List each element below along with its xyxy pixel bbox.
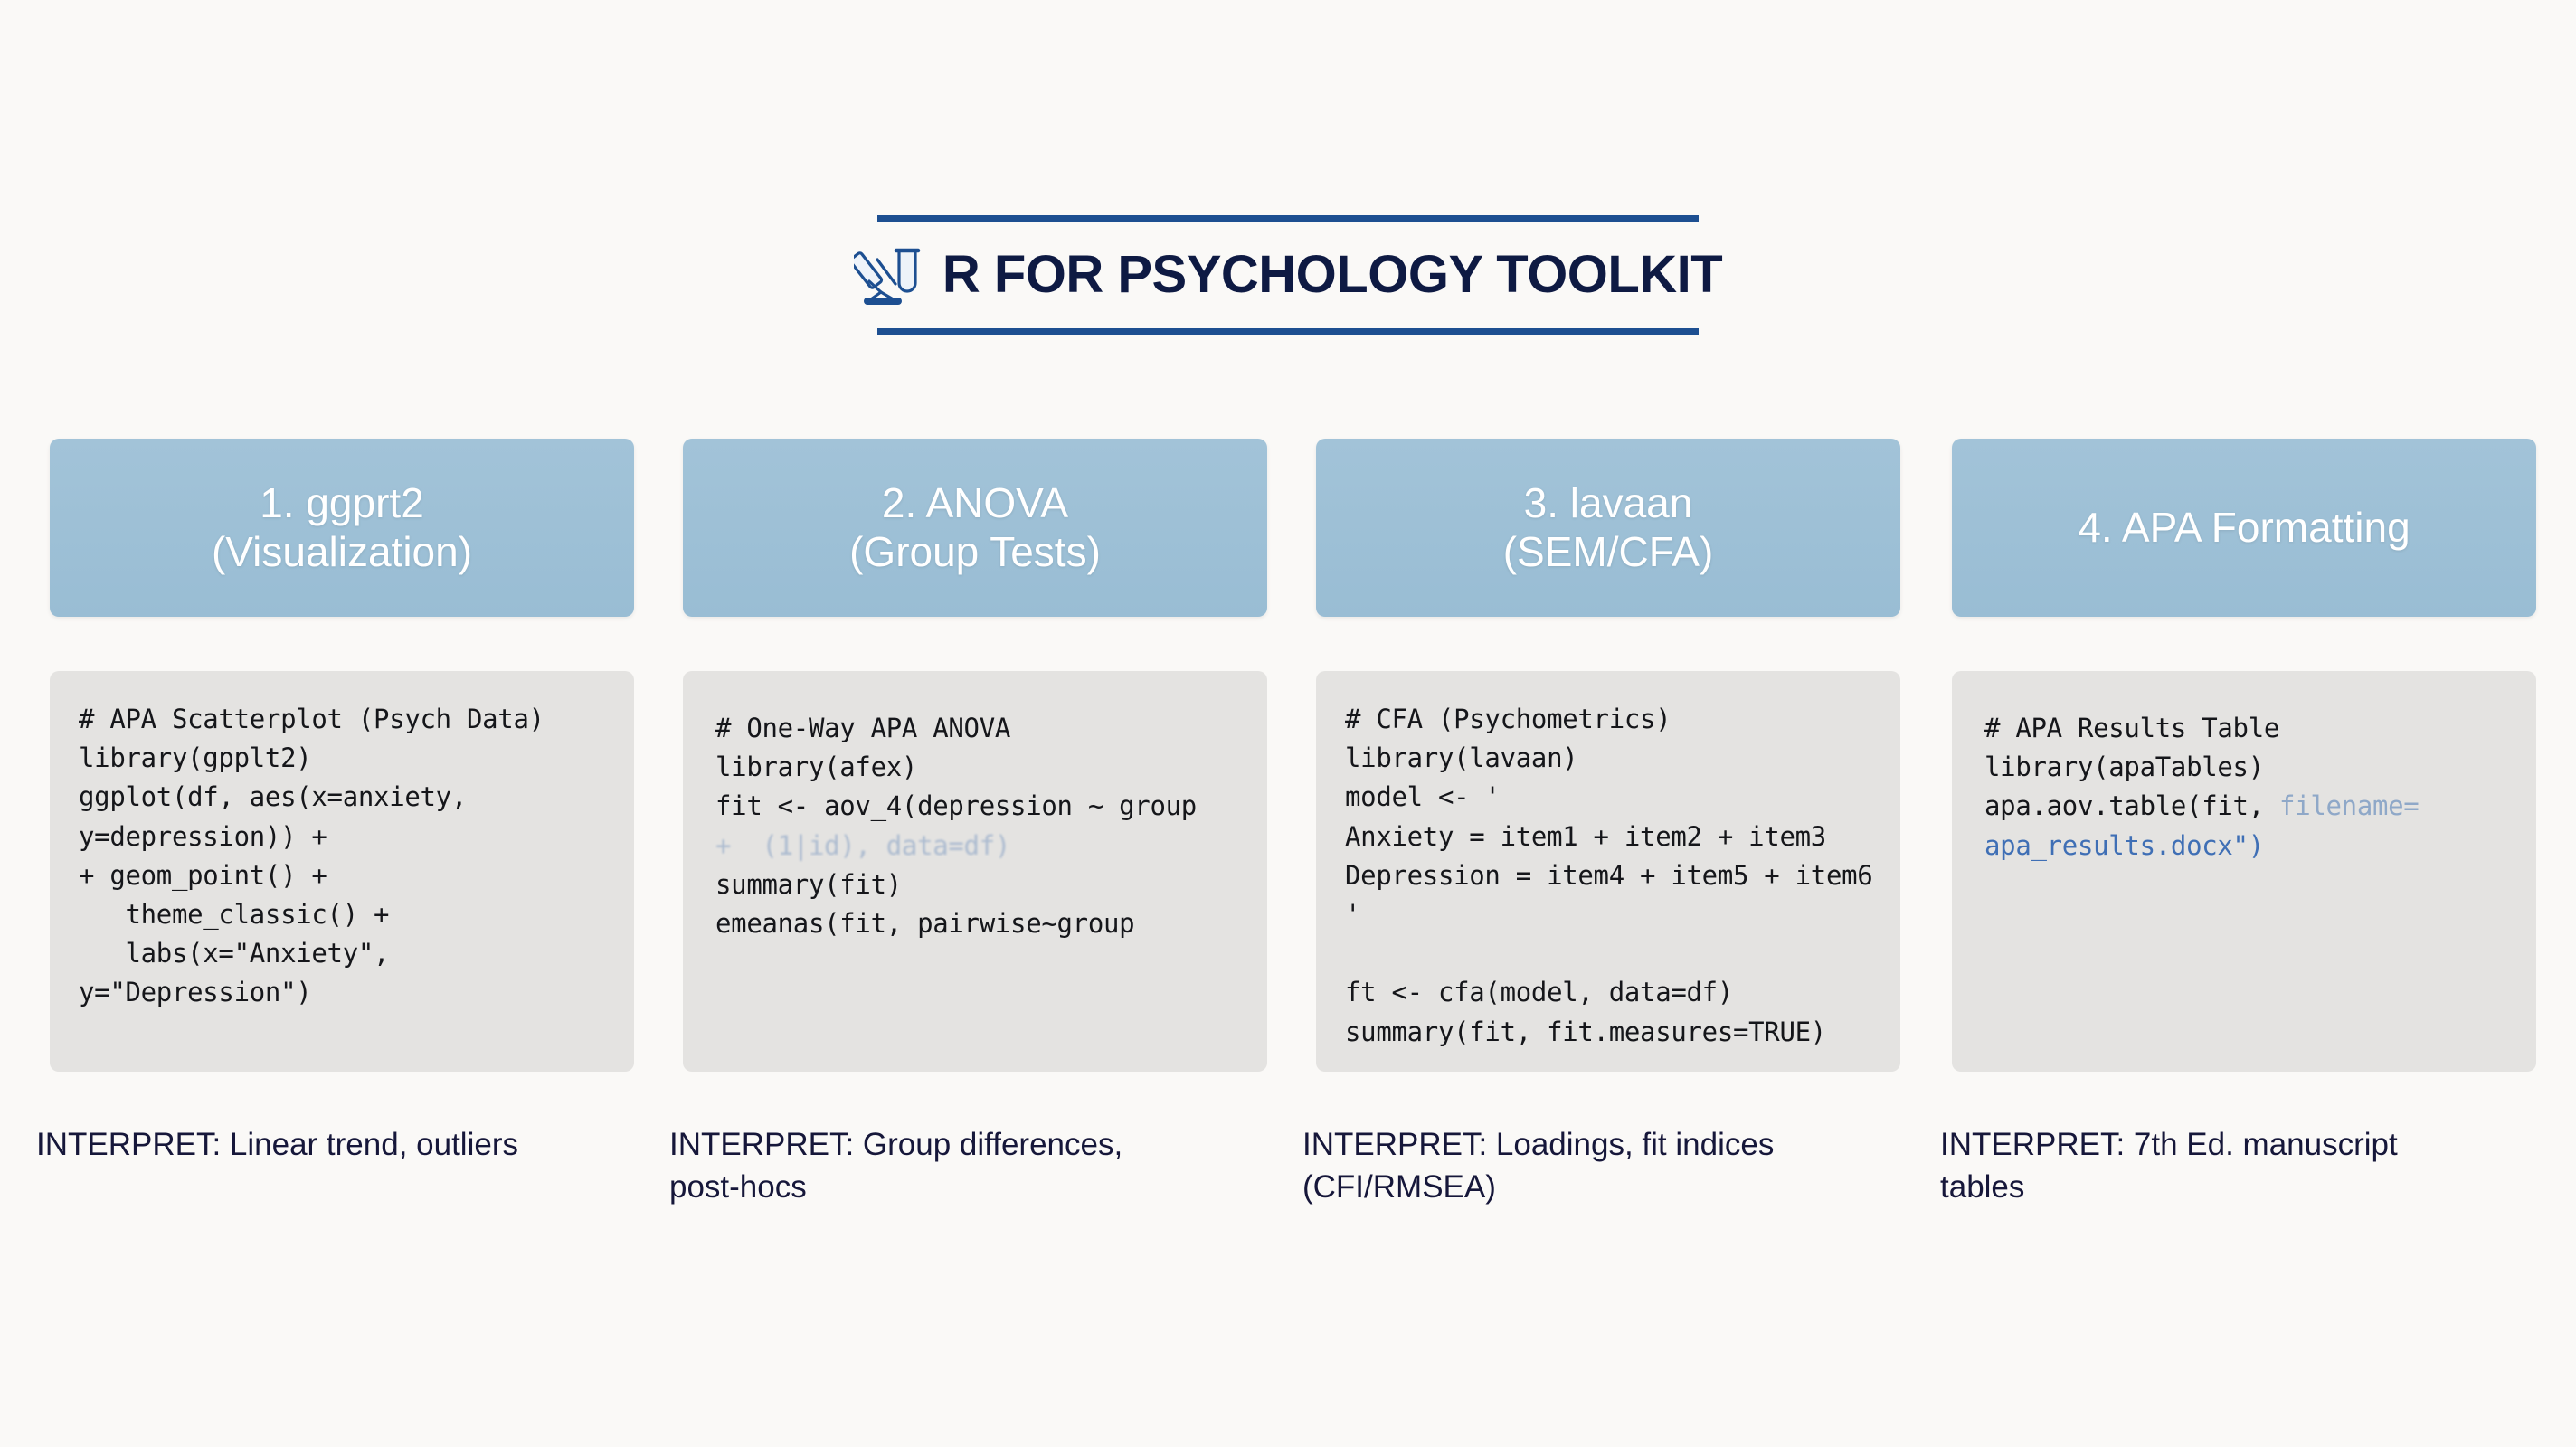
code-apa-filename-value: apa_results.docx") <box>1984 830 2264 861</box>
code-snippet-lavaan: # CFA (Psychometrics) library(lavaan) mo… <box>1345 700 1942 1052</box>
code-block-anova: # One-Way APA ANOVA library(afex) fit <-… <box>683 671 1267 1072</box>
microscope-test-tube-icon <box>854 241 924 307</box>
code-line-fit: fit <- aov_4(depression ~ group <box>715 790 1197 821</box>
column-header-anova: 2. ANOVA (Group Tests) <box>683 439 1267 617</box>
toolkit-column-lavaan: 3. lavaan (SEM/CFA) <box>1316 439 1900 617</box>
code-line-library: library(afex) <box>715 752 917 782</box>
page-title-banner: R FOR PSYCHOLOGY TOOLKIT <box>877 215 1699 335</box>
interpret-caption-anova: INTERPRET: Group differences, post-hocs <box>669 1124 1277 1208</box>
code-line-smudged-artifact: + (1|id), data=df) <box>715 830 1010 861</box>
code-snippet-ggplot2: # APA Scatterplot (Psych Data) library(g… <box>79 700 676 1013</box>
column-header-lavaan: 3. lavaan (SEM/CFA) <box>1316 439 1900 617</box>
code-apa-filename-arg: filename= <box>2279 790 2419 821</box>
interpret-caption-apa: INTERPRET: 7th Ed. manuscript tables <box>1940 1124 2548 1208</box>
code-line-emmeans: emeanas(fit, pairwise~group <box>715 908 1134 939</box>
code-snippet-apa: # APA Results Table library(apaTables) a… <box>1984 709 2576 865</box>
interpret-caption-ggplot2: INTERPRET: Linear trend, outliers <box>36 1124 644 1167</box>
code-block-apa: # APA Results Table library(apaTables) a… <box>1952 671 2536 1072</box>
page-title: R FOR PSYCHOLOGY TOOLKIT <box>942 244 1722 305</box>
interpret-caption-lavaan: INTERPRET: Loadings, fit indices (CFI/RM… <box>1302 1124 1910 1208</box>
column-header-label: 1. ggprt2 (Visualization) <box>201 479 483 577</box>
toolkit-column-anova: 2. ANOVA (Group Tests) <box>683 439 1267 617</box>
code-apa-prefix: # APA Results Table library(apaTables) a… <box>1984 713 2279 821</box>
code-block-ggplot2: # APA Scatterplot (Psych Data) library(g… <box>50 671 634 1072</box>
column-header-label: 2. ANOVA (Group Tests) <box>838 479 1112 577</box>
column-header-label: 4. APA Formatting <box>2067 504 2420 553</box>
column-header-ggplot2: 1. ggprt2 (Visualization) <box>50 439 634 617</box>
toolkit-column-apa: 4. APA Formatting <box>1952 439 2536 617</box>
column-header-apa: 4. APA Formatting <box>1952 439 2536 617</box>
toolkit-column-ggplot2: 1. ggprt2 (Visualization) <box>50 439 634 617</box>
code-line-summary: summary(fit) <box>715 869 902 900</box>
code-line-group-top: # One-Way APA ANOVA <box>715 713 1010 743</box>
code-snippet-anova: # One-Way APA ANOVA library(afex) fit <-… <box>715 709 1312 943</box>
code-block-lavaan: # CFA (Psychometrics) library(lavaan) mo… <box>1316 671 1900 1072</box>
column-header-label: 3. lavaan (SEM/CFA) <box>1492 479 1725 577</box>
